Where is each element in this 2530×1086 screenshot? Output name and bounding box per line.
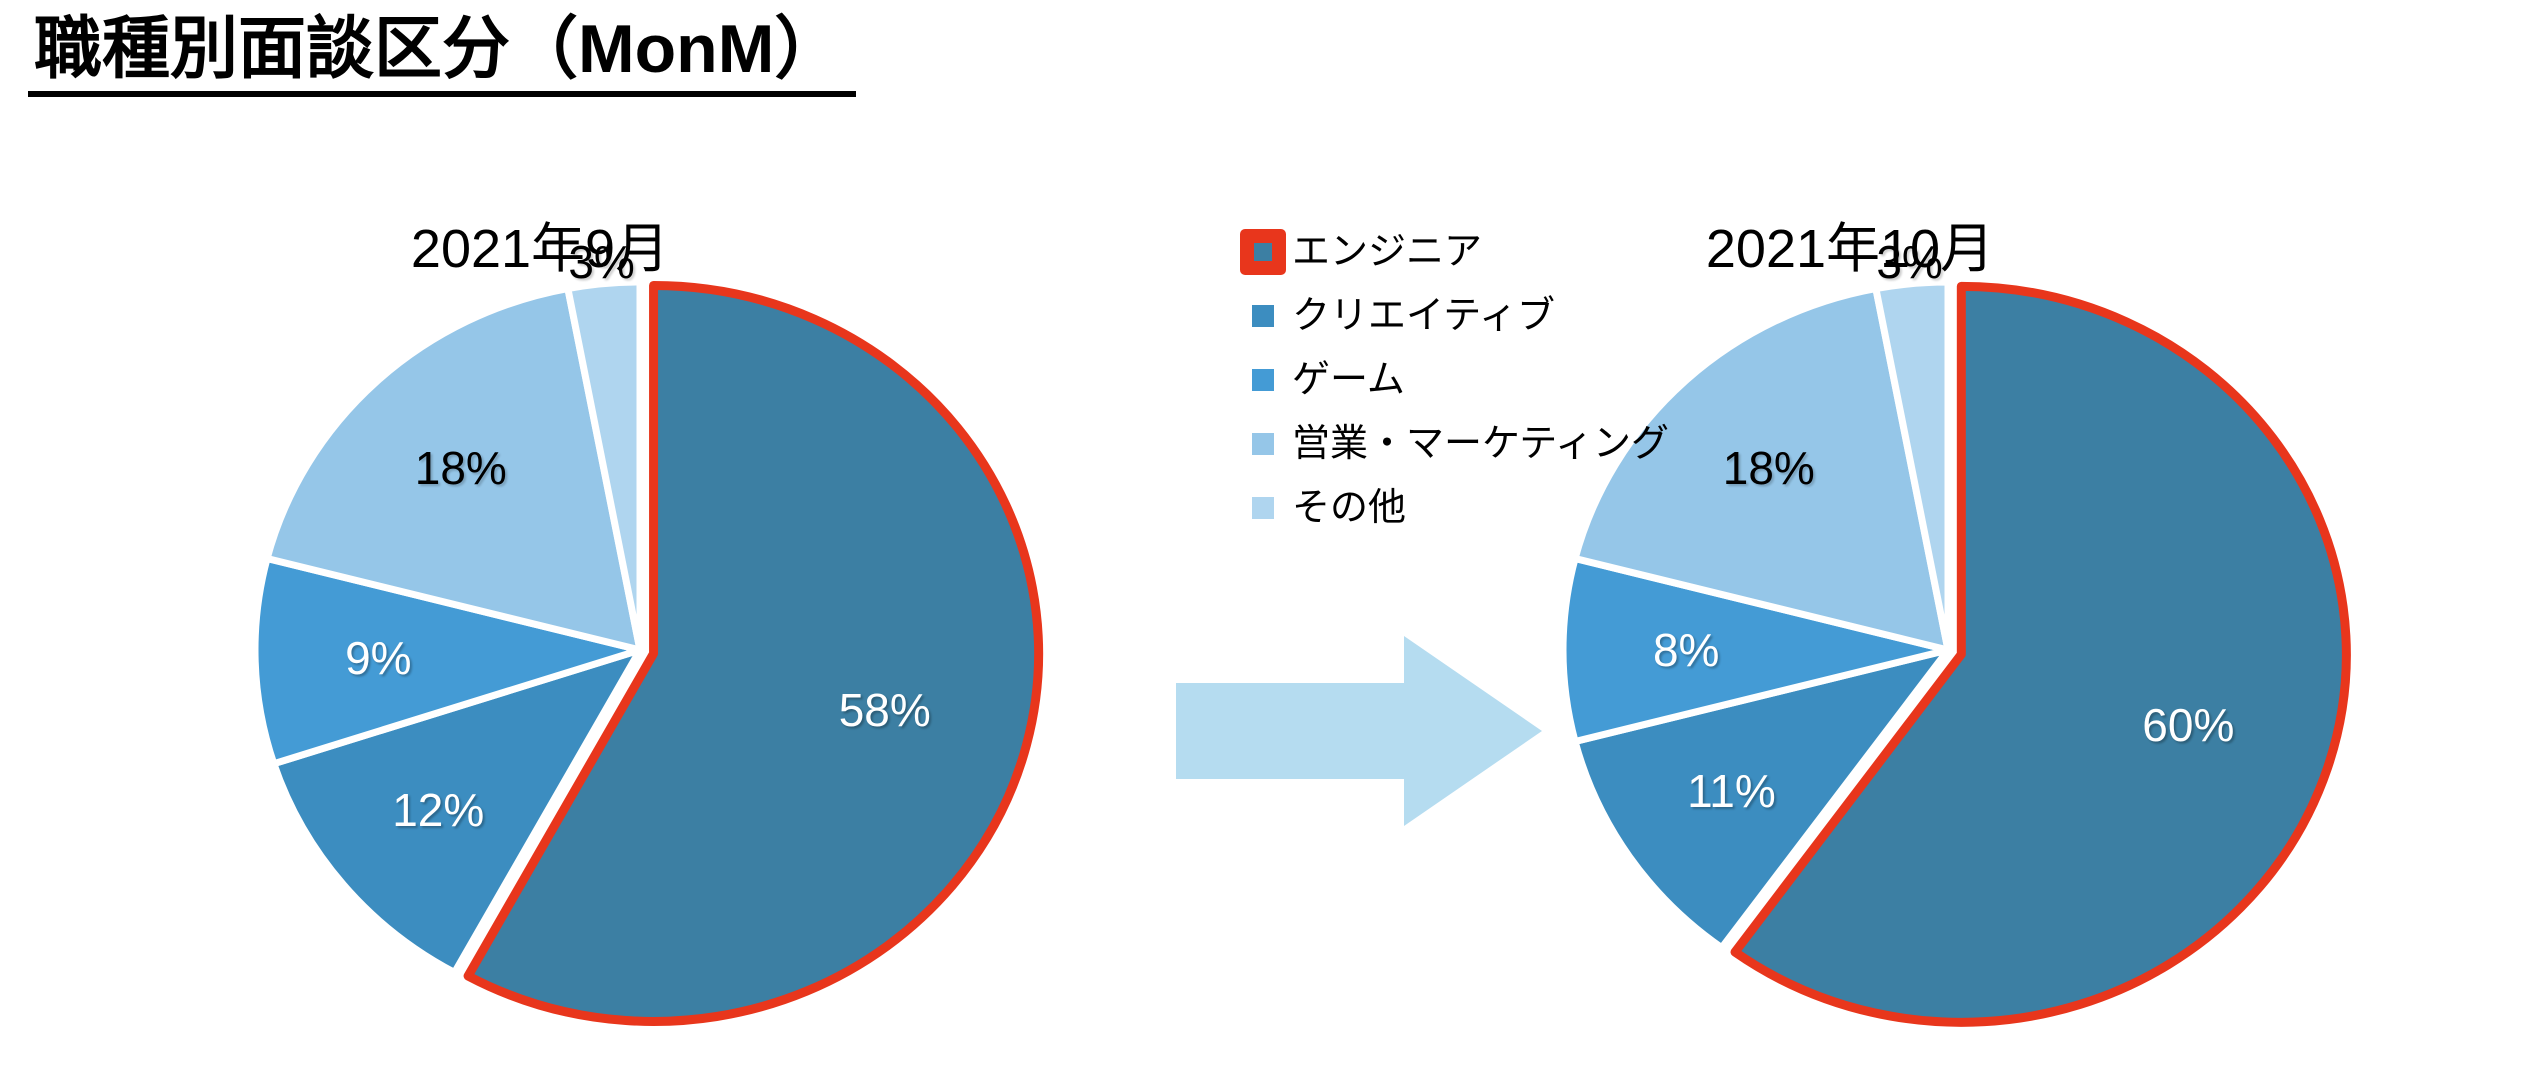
legend-color-chip — [1252, 433, 1274, 455]
legend-swatch-icon — [1240, 485, 1286, 531]
legend-swatch-icon — [1240, 421, 1286, 467]
legend-item-label: クリエイティブ — [1292, 297, 1555, 335]
legend-item-label: エンジニア — [1292, 233, 1482, 271]
legend-swatch-highlighted-icon — [1240, 229, 1286, 275]
legend-item-4[interactable]: 営業・マーケティング — [1240, 420, 1669, 468]
legend-item-3[interactable]: ゲーム — [1240, 356, 1669, 404]
page-title: 職種別面談区分（MonM） — [28, 14, 856, 97]
right-chart-title: 2021年10月 — [1650, 204, 2050, 283]
slide-canvas: 職種別面談区分（MonM） 2021年9月 2021年10月 58%12%9%1… — [0, 0, 2530, 1086]
legend-item-label: その他 — [1292, 489, 1406, 527]
legend-item-1[interactable]: エンジニア — [1240, 228, 1669, 276]
legend-item-2[interactable]: クリエイティブ — [1240, 292, 1669, 340]
legend-swatch-icon — [1240, 293, 1286, 339]
legend-color-chip — [1252, 305, 1274, 327]
legend-color-chip — [1252, 369, 1274, 391]
pie-chart-2021-09: 58%12%9%18%3% — [160, 280, 1120, 1020]
legend-item-5[interactable]: その他 — [1240, 484, 1669, 532]
left-chart-title: 2021年9月 — [340, 204, 740, 283]
chart-legend: エンジニアクリエイティブゲーム営業・マーケティングその他 — [1240, 228, 1669, 532]
legend-color-chip — [1254, 243, 1272, 261]
legend-color-chip — [1252, 497, 1274, 519]
legend-item-label: 営業・マーケティング — [1292, 425, 1669, 463]
page-title-text: 職種別面談区分（MonM） — [34, 14, 842, 85]
legend-item-label: ゲーム — [1292, 361, 1405, 399]
legend-swatch-icon — [1240, 357, 1286, 403]
right-arrow-shape — [1176, 636, 1542, 826]
pie-chart-2021-09-svg — [160, 280, 1120, 1020]
right-arrow-icon — [1176, 636, 1542, 826]
